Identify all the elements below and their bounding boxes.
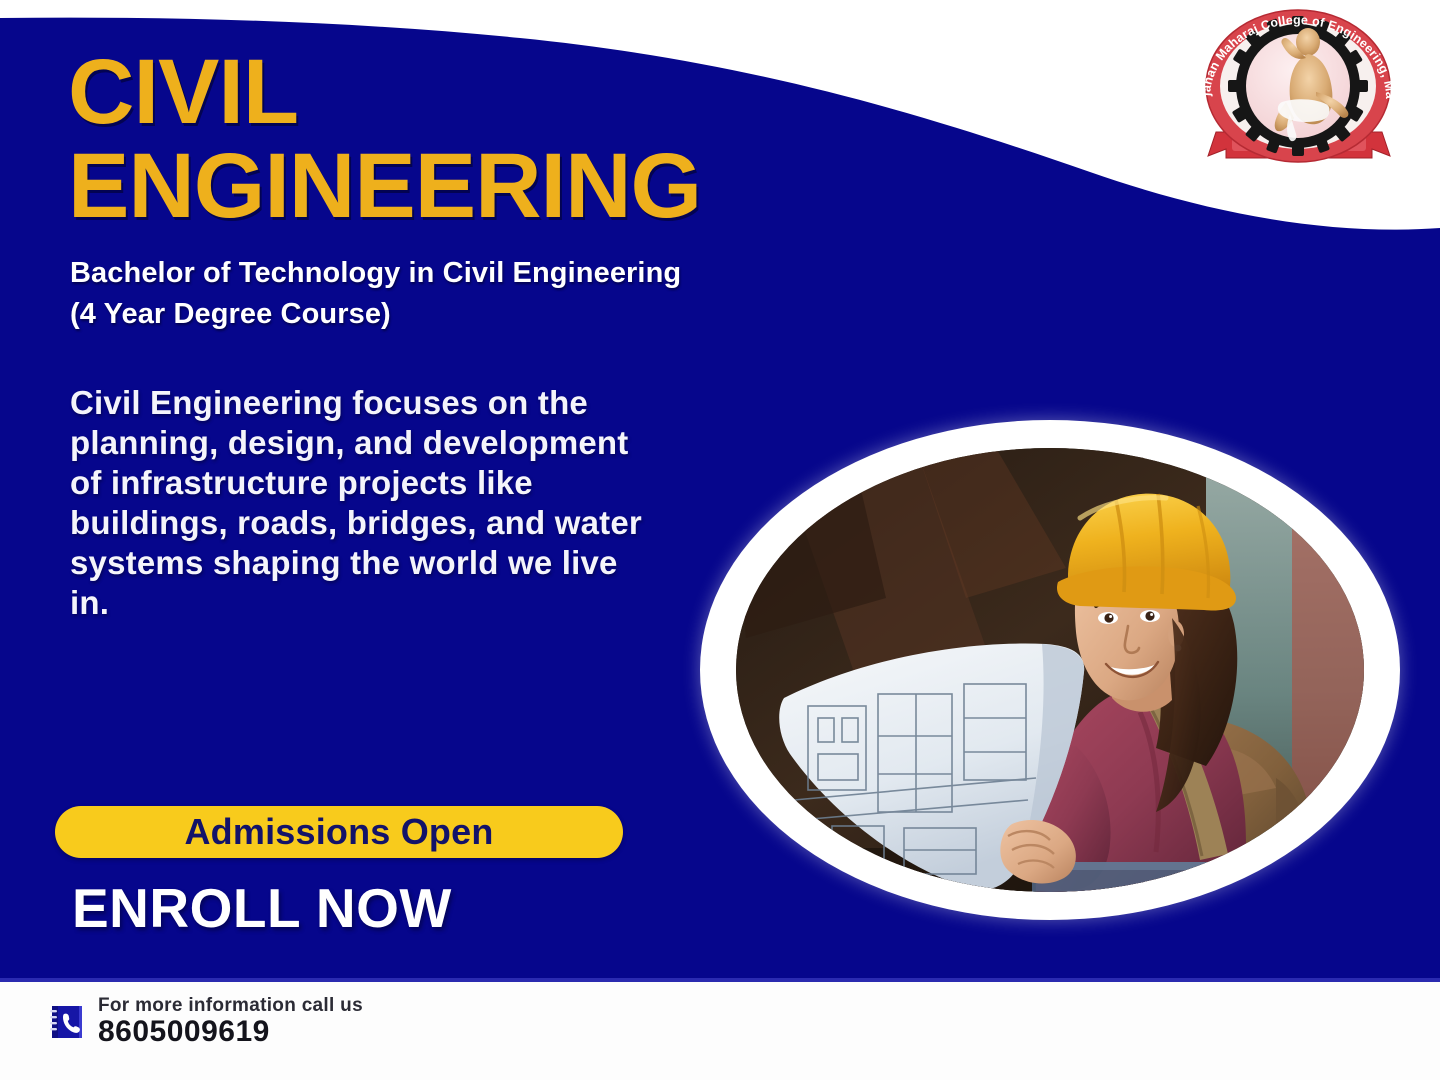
college-logo: विद्या भारती + चित्र सेवा <box>1182 6 1424 172</box>
contact-text-group: For more information call us 8605009619 <box>98 996 363 1047</box>
contact-phone-number[interactable]: 8605009619 <box>98 1016 363 1048</box>
course-subtitle: Bachelor of Technology in Civil Engineer… <box>70 253 1050 335</box>
student-photo-frame <box>700 420 1400 920</box>
course-description: Civil Engineering focuses on the plannin… <box>70 383 660 624</box>
footer-contact-block: For more information call us 8605009619 <box>48 996 363 1047</box>
contact-label: For more information call us <box>98 996 363 1016</box>
civil-engineering-admission-poster: विद्या भारती + चित्र सेवा <box>0 0 1440 1080</box>
phonebook-icon <box>48 1003 86 1041</box>
student-photo <box>736 448 1364 892</box>
headline-line-2: ENGINEERING <box>68 140 1048 234</box>
enroll-now-heading: ENROLL NOW <box>72 876 452 940</box>
admissions-open-badge[interactable]: Admissions Open <box>55 806 623 858</box>
subtitle-line-2: (4 Year Degree Course) <box>70 294 1050 335</box>
admissions-open-label: Admissions Open <box>184 811 493 853</box>
page-title: CIVIL ENGINEERING <box>68 46 1048 234</box>
headline-line-1: CIVIL <box>68 46 1048 140</box>
poster-footer: For more information call us 8605009619 … <box>0 982 1440 1080</box>
subtitle-line-1: Bachelor of Technology in Civil Engineer… <box>70 253 1050 294</box>
